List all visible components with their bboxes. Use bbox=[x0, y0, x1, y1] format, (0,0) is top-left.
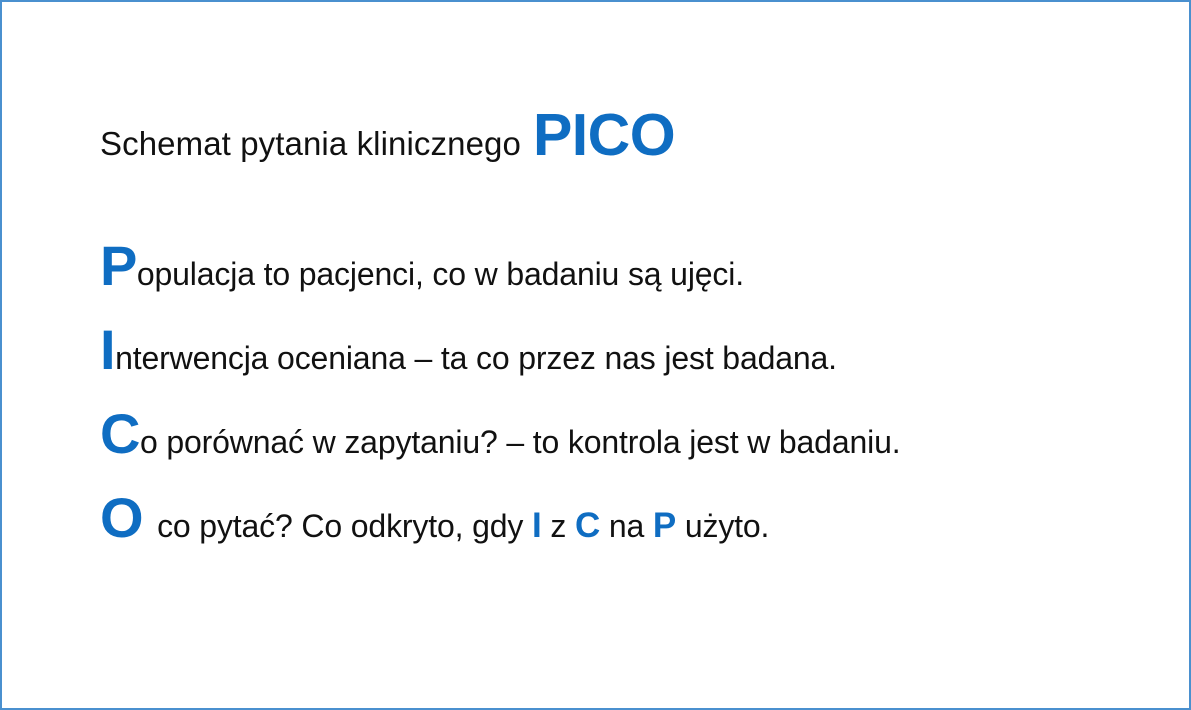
verse-text: o porównać w zapytaniu? – to kontrola je… bbox=[140, 426, 901, 458]
page-title-acronym: PICO bbox=[533, 106, 675, 165]
verse-line: Interwencja oceniana – ta co przez nas j… bbox=[100, 322, 1140, 406]
page-title: Schemat pytania klinicznego PICO bbox=[100, 106, 675, 165]
pico-verse-list: Populacja to pacjenci, co w badaniu są u… bbox=[100, 238, 1140, 574]
verse-text-segment: z bbox=[542, 508, 575, 544]
verse-line: Populacja to pacjenci, co w badaniu są u… bbox=[100, 238, 1140, 322]
pico-slide: Schemat pytania klinicznego PICO Populac… bbox=[0, 0, 1191, 710]
verse-dropcap: O bbox=[100, 490, 143, 546]
verse-highlight-letter: I bbox=[532, 506, 542, 545]
verse-dropcap: P bbox=[100, 238, 137, 294]
verse-highlight-letter: P bbox=[653, 506, 676, 545]
verse-highlight-letter: C bbox=[575, 506, 600, 545]
verse-line: Oco pytać? Co odkryto, gdy I z C na P uż… bbox=[100, 490, 1140, 574]
verse-line: Co porównać w zapytaniu? – to kontrola j… bbox=[100, 406, 1140, 490]
verse-text: nterwencja oceniana – ta co przez nas je… bbox=[115, 342, 837, 374]
verse-dropcap: I bbox=[100, 322, 115, 378]
verse-text: opulacja to pacjenci, co w badaniu są uj… bbox=[137, 258, 744, 290]
verse-text-segment: użyto. bbox=[676, 508, 769, 544]
verse-text-segment: na bbox=[600, 508, 653, 544]
verse-dropcap: C bbox=[100, 406, 140, 462]
page-title-lead: Schemat pytania klinicznego bbox=[100, 127, 521, 160]
verse-text-segment: co pytać? Co odkryto, gdy bbox=[157, 508, 532, 544]
verse-text: co pytać? Co odkryto, gdy I z C na P uży… bbox=[157, 508, 769, 543]
